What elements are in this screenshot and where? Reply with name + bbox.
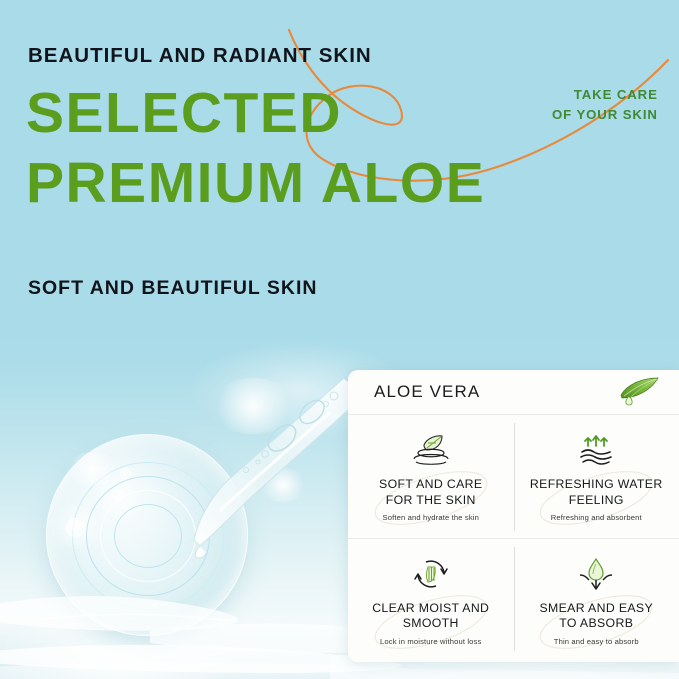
leaf-on-water-icon <box>411 432 451 468</box>
page-title: SELECTED PREMIUM ALOE <box>26 78 485 218</box>
feature-subtitle: Thin and easy to absorb <box>554 637 639 646</box>
feature-cell-refreshing-water: REFRESHING WATER FEELING Refreshing and … <box>514 415 679 539</box>
card-title: ALOE VERA <box>374 382 617 402</box>
poster-subheading: SOFT AND BEAUTIFUL SKIN <box>28 277 318 300</box>
feature-grid: SOFT AND CARE FOR THE SKIN Soften and hy… <box>348 415 679 662</box>
feature-cell-soft-and-care: SOFT AND CARE FOR THE SKIN Soften and hy… <box>348 415 514 539</box>
feature-title: SOFT AND CARE FOR THE SKIN <box>379 477 482 508</box>
feature-subtitle: Lock in moisture without loss <box>380 637 481 646</box>
water-droplet-sphere <box>46 434 248 636</box>
feature-subtitle: Soften and hydrate the skin <box>382 513 479 522</box>
aloe-leaf-drop-icon <box>617 377 661 407</box>
take-care-badge: TAKE CARE OF YOUR SKIN <box>552 85 658 125</box>
feature-cell-clear-moist: CLEAR MOIST AND SMOOTH Lock in moisture … <box>348 539 514 663</box>
droplet-absorb-icon <box>576 556 616 592</box>
moisture-cycle-icon <box>411 556 451 592</box>
aloe-vera-feature-card: ALOE VERA <box>348 370 679 662</box>
feature-title: REFRESHING WATER FEELING <box>530 477 663 508</box>
poster-eyebrow: BEAUTIFUL AND RADIANT SKIN <box>28 44 372 68</box>
feature-title: SMEAR AND EASY TO ABSORB <box>539 601 653 632</box>
aloe-vera-poster: BEAUTIFUL AND RADIANT SKIN SELECTED PREM… <box>0 0 679 679</box>
feature-cell-smear-absorb: SMEAR AND EASY TO ABSORB Thin and easy t… <box>514 539 679 663</box>
card-header: ALOE VERA <box>348 370 679 415</box>
feature-title: CLEAR MOIST AND SMOOTH <box>372 601 489 632</box>
water-waves-sprout-icon <box>576 432 616 468</box>
feature-subtitle: Refreshing and absorbent <box>551 513 642 522</box>
